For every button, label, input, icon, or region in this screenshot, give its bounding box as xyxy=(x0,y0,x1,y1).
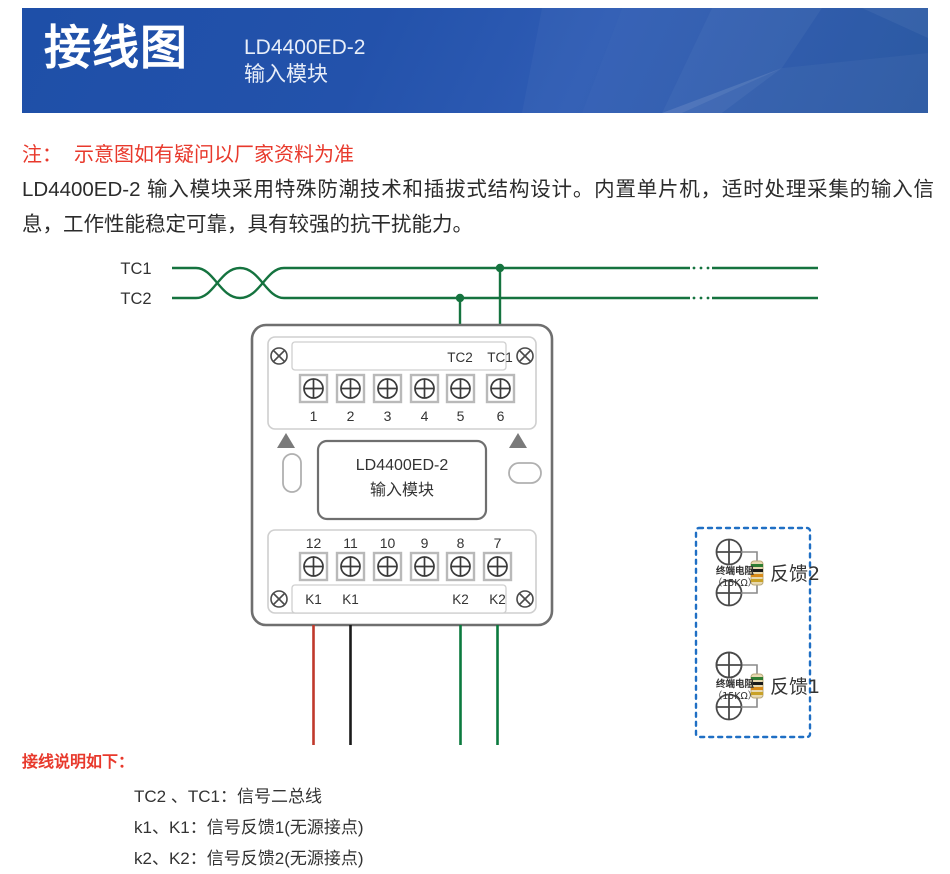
resistor-label: 终端电阻 xyxy=(715,678,755,690)
header-subtitle-group: LD4400ED-2 输入模块 xyxy=(244,34,365,88)
terminal-number: 8 xyxy=(457,535,465,551)
terminal-number: 7 xyxy=(494,535,502,551)
header-model: LD4400ED-2 xyxy=(244,34,365,61)
junction-dot-tc2 xyxy=(456,294,464,302)
terminal-screw-icon[interactable] xyxy=(337,375,364,402)
mount-screw-icon xyxy=(517,348,533,364)
page-title: 接线图 xyxy=(44,25,188,72)
bus-line-tc2 xyxy=(172,268,690,298)
feedback1-title: 反馈1 xyxy=(770,676,820,698)
wire-k1b-to-feedback1-top xyxy=(351,625,717,745)
terminal-screw-icon[interactable] xyxy=(300,553,327,580)
module-type-text: 输入模块 xyxy=(370,480,434,499)
bottom-signal-label-k2a: K2 xyxy=(452,592,469,607)
terminal-number: 5 xyxy=(457,408,465,424)
top-label-strip xyxy=(292,342,506,370)
bottom-signal-label-k1b: K1 xyxy=(342,592,359,607)
bus-label-tc2: TC2 xyxy=(120,290,151,308)
feedback2-title: 反馈2 xyxy=(770,563,820,585)
terminal-number: 11 xyxy=(343,535,358,551)
terminal-number: 3 xyxy=(384,408,392,424)
feedback-wiring-group xyxy=(314,625,717,745)
top-signal-label-tc2: TC2 xyxy=(447,350,473,365)
legend-section: 接线说明如下： TC2 、TC1：信号二总线 k1、K1：信号反馈1(无源接点)… xyxy=(22,748,622,874)
terminal-screw-icon[interactable] xyxy=(411,553,438,580)
led-indicator-right xyxy=(509,463,541,483)
terminal-screw-icon[interactable] xyxy=(487,375,514,402)
feedback-enclosure-dashed-box xyxy=(696,528,810,737)
header-banner: 接线图 LD4400ED-2 输入模块 xyxy=(22,8,928,113)
header-product-type: 输入模块 xyxy=(244,61,365,88)
bottom-terminal-block: 12 11 10 9 8 7 xyxy=(268,530,536,613)
note-line: 注：示意图如有疑问以厂家资料为准 xyxy=(22,138,354,167)
mount-screw-icon xyxy=(271,591,287,607)
legend-title: 接线说明如下： xyxy=(22,748,622,772)
terminal-screw-icon[interactable] xyxy=(337,553,364,580)
wire-k2a-to-feedback2-top xyxy=(461,625,717,745)
feedback-terminal-icon[interactable] xyxy=(717,540,742,565)
terminal-screw-icon[interactable] xyxy=(447,553,474,580)
terminal-number: 4 xyxy=(421,408,429,424)
feedback1-unit: 终端电阻 （15KΩ） 反馈1 xyxy=(713,653,820,720)
terminal-number: 10 xyxy=(380,535,396,551)
terminal-screw-icon[interactable] xyxy=(374,553,401,580)
terminal-screw-icon[interactable] xyxy=(411,375,438,402)
wire-k1a-to-feedback1-bottom xyxy=(314,625,717,745)
bus-break-ellipsis xyxy=(693,267,710,300)
bottom-label-strip xyxy=(292,585,506,613)
bottom-signal-label-k2b: K2 xyxy=(489,592,506,607)
terminal-screw-icon[interactable] xyxy=(300,375,327,402)
legend-row-tc: TC2 、TC1：信号二总线 xyxy=(134,781,622,812)
terminal-screw-icon[interactable] xyxy=(447,375,474,402)
terminal-screw-icon[interactable] xyxy=(374,375,401,402)
description-paragraph: LD4400ED-2 输入模块采用特殊防潮技术和插拔式结构设计。内置单片机，适时… xyxy=(22,172,934,242)
resistor-value: （15KΩ） xyxy=(713,690,758,702)
bus-line-tc1 xyxy=(172,268,690,298)
module-model-text: LD4400ED-2 xyxy=(356,457,449,474)
legend-row-k1: k1、K1：信号反馈1(无源接点) xyxy=(134,812,622,843)
resistor-value: （15KΩ） xyxy=(713,577,758,589)
terminal-screw-icon[interactable] xyxy=(484,553,511,580)
mount-screw-icon xyxy=(271,348,287,364)
bus-label-tc1: TC1 xyxy=(120,260,151,278)
terminal-number: 2 xyxy=(347,408,355,424)
terminal-number: 6 xyxy=(497,408,505,424)
top-terminal-block: TC2 TC1 xyxy=(268,337,536,429)
mount-screw-icon xyxy=(517,591,533,607)
bottom-signal-label-k1a: K1 xyxy=(305,592,322,607)
diagram-canvas: TC1 TC2 xyxy=(0,245,950,745)
feedback2-unit: 终端电阻 （15KΩ） 反馈2 xyxy=(713,540,820,606)
legend-row-k2: k2、K2：信号反馈2(无源接点) xyxy=(134,843,622,874)
note-label: 注： xyxy=(22,144,62,166)
terminal-number: 12 xyxy=(306,535,322,551)
junction-dot-tc1 xyxy=(496,264,504,272)
terminal-number: 1 xyxy=(310,408,318,424)
terminal-number: 9 xyxy=(421,535,429,551)
wire-k2b-to-feedback2-bottom xyxy=(498,625,717,745)
top-signal-label-tc1: TC1 xyxy=(487,350,513,365)
module-device: TC2 TC1 xyxy=(252,325,552,625)
note-text: 示意图如有疑问以厂家资料为准 xyxy=(74,144,354,166)
resistor-label: 终端电阻 xyxy=(715,565,755,577)
wiring-diagram-page: 接线图 LD4400ED-2 输入模块 注：示意图如有疑问以厂家资料为准 LD4… xyxy=(0,0,950,872)
led-indicator-left xyxy=(283,454,301,492)
